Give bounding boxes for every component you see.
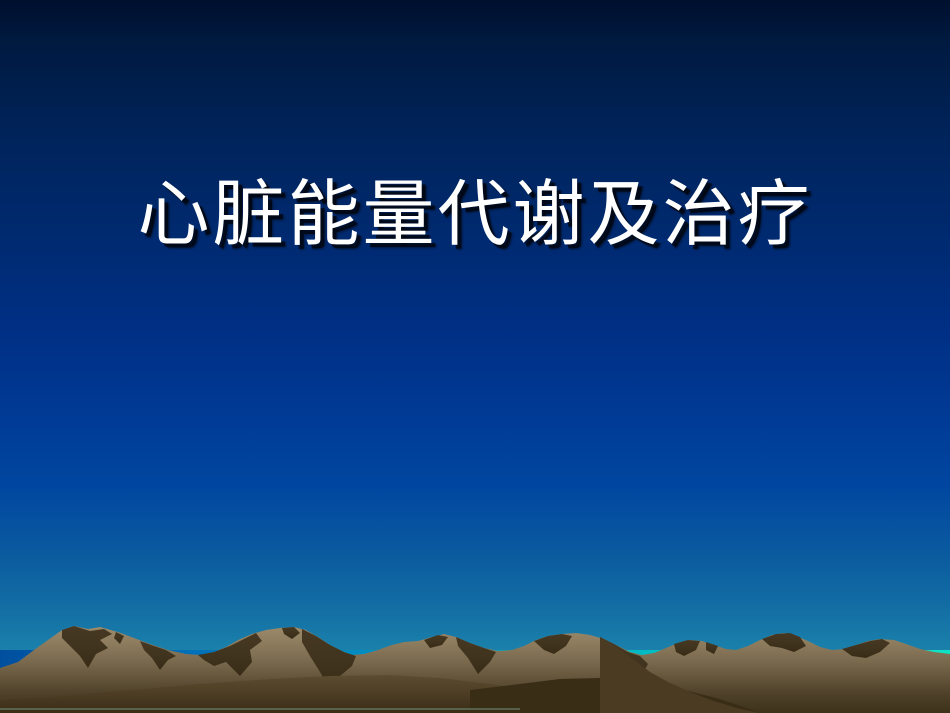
bottom-hairline [0,708,520,710]
mountain-range-graphic [0,0,950,713]
presentation-slide: 心脏能量代谢及治疗 [0,0,950,713]
